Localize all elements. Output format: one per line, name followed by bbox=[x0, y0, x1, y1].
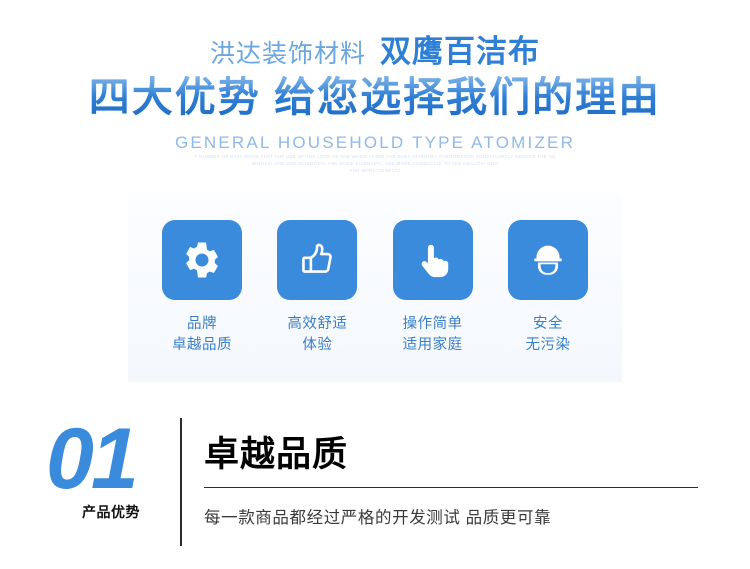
feature-card-easy-use[interactable]: 操作简单 适用家庭 bbox=[385, 196, 481, 356]
section-title: 卓越品质 bbox=[204, 436, 698, 475]
feature-caption-easy-use-line1: 操作简单 bbox=[385, 314, 481, 335]
section-01: 01 产品优势 卓越品质 每一款商品都经过严格的开发测试 品质更可靠 bbox=[0, 410, 750, 550]
feature-caption-easy-use: 操作简单 适用家庭 bbox=[385, 314, 481, 356]
feature-tile-easy-use bbox=[393, 220, 473, 300]
feature-caption-brand-line1: 品牌 bbox=[154, 314, 250, 335]
brand-name: 双鹰百洁布 bbox=[380, 36, 540, 67]
section-number: 01 bbox=[46, 416, 136, 502]
feature-caption-comfort: 高效舒适 体验 bbox=[269, 314, 365, 356]
section-number-column: 01 产品优势 bbox=[52, 410, 180, 550]
feature-cards: 品牌 卓越品质 高效舒适 体验 bbox=[128, 196, 622, 356]
feature-tile-comfort bbox=[277, 220, 357, 300]
feature-card-comfort[interactable]: 高效舒适 体验 bbox=[269, 196, 365, 356]
feature-caption-safety-line1: 安全 bbox=[500, 314, 596, 335]
feature-caption-comfort-line1: 高效舒适 bbox=[269, 314, 365, 335]
micro-text-line-3: AND MORE CONDUCI bbox=[0, 168, 750, 175]
micro-text-line-2: IENTIFIC AND ORE SCIENTIFIC AND MORE SCI… bbox=[0, 161, 750, 168]
section-01-inner: 01 产品优势 卓越品质 每一款商品都经过严格的开发测试 品质更可靠 bbox=[52, 410, 698, 550]
feature-caption-easy-use-line2: 适用家庭 bbox=[385, 335, 481, 356]
horizontal-divider bbox=[204, 487, 698, 489]
header: 洪达装饰材料 双鹰百洁布 四大优势 给您选择我们的理由 GENERAL HOUS… bbox=[0, 0, 750, 175]
brand-subtitle: 洪达装饰材料 bbox=[210, 42, 366, 67]
feature-caption-brand-line2: 卓越品质 bbox=[154, 335, 250, 356]
feature-card-safety[interactable]: 安全 无污染 bbox=[500, 196, 596, 356]
feature-caption-safety: 安全 无污染 bbox=[500, 314, 596, 356]
feature-caption-brand: 品牌 卓越品质 bbox=[154, 314, 250, 356]
feature-caption-safety-line2: 无污染 bbox=[500, 335, 596, 356]
brand-row: 洪达装饰材料 双鹰百洁布 bbox=[0, 36, 750, 67]
pointing-hand-icon bbox=[412, 239, 454, 281]
feature-tile-safety bbox=[508, 220, 588, 300]
feature-tile-brand bbox=[162, 220, 242, 300]
safety-helmet-icon bbox=[527, 239, 569, 281]
feature-card-brand[interactable]: 品牌 卓越品质 bbox=[154, 196, 250, 356]
english-subtitle: GENERAL HOUSEHOLD TYPE ATOMIZER bbox=[0, 133, 750, 153]
gear-icon bbox=[181, 239, 223, 281]
section-number-label: 产品优势 bbox=[82, 502, 140, 522]
feature-caption-comfort-line2: 体验 bbox=[269, 335, 365, 356]
thumbs-up-icon bbox=[296, 239, 338, 281]
micro-text-block: A NUMBER OF DATA SHOW THAT THE USE OF TH… bbox=[0, 154, 750, 174]
micro-text-line-1: A NUMBER OF DATA SHOW THAT THE USE OF TH… bbox=[0, 154, 750, 161]
section-description: 每一款商品都经过严格的开发测试 品质更可靠 bbox=[204, 504, 698, 528]
page-title: 四大优势 给您选择我们的理由 bbox=[0, 76, 750, 119]
promo-page: 洪达装饰材料 双鹰百洁布 四大优势 给您选择我们的理由 GENERAL HOUS… bbox=[0, 0, 750, 569]
section-text-column: 卓越品质 每一款商品都经过严格的开发测试 品质更可靠 bbox=[182, 410, 698, 550]
